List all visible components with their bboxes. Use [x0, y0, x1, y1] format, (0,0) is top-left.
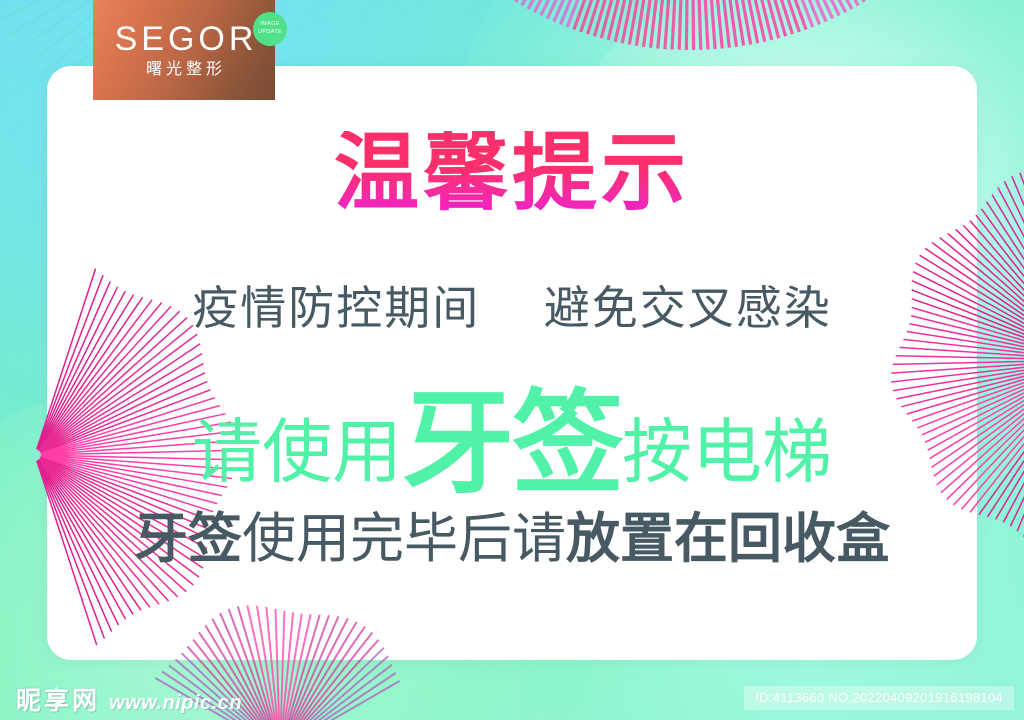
subtitle-part-2: 避免交叉感染 — [544, 282, 832, 334]
brand-latin-name: SEGOR — [115, 22, 258, 56]
watermark-chinese: 昵享网 — [16, 689, 100, 714]
image-update-badge: IMAGE UPDATE — [253, 12, 287, 46]
badge-line-2: UPDATE — [258, 29, 282, 37]
subtitle-part-1: 疫情防控期间 — [192, 282, 480, 334]
disposal-line: 牙签使用完毕后请放置在回收盒 — [0, 512, 1024, 566]
disposal-part-2: 使用完毕后请 — [242, 509, 566, 569]
asset-id-tag: ID:4113660 NO:20220409201916198104 — [744, 686, 1014, 710]
brand-logo[interactable]: SEGOR 曙光整形 IMAGE UPDATE — [93, 0, 275, 100]
poster-canvas: SEGOR 曙光整形 IMAGE UPDATE 温馨提示 疫情防控期间 避免交叉… — [0, 0, 1024, 720]
brand-chinese-name: 曙光整形 — [146, 62, 226, 78]
disposal-part-3: 放置在回收盒 — [566, 509, 890, 569]
poster-title: 温馨提示 — [0, 131, 1024, 216]
badge-line-1: IMAGE — [260, 21, 280, 29]
site-watermark: 昵享网 www.nipic.cn — [16, 689, 242, 714]
instruction-line: 请使用牙签按电梯 — [0, 388, 1024, 500]
subtitle-line: 疫情防控期间 避免交叉感染 — [0, 285, 1024, 331]
disposal-part-1: 牙签 — [134, 509, 242, 569]
instruction-emphasis: 牙签 — [402, 381, 622, 506]
instruction-suffix: 按电梯 — [622, 413, 832, 491]
watermark-url: www.nipic.cn — [109, 693, 242, 713]
instruction-prefix: 请使用 — [192, 413, 402, 491]
